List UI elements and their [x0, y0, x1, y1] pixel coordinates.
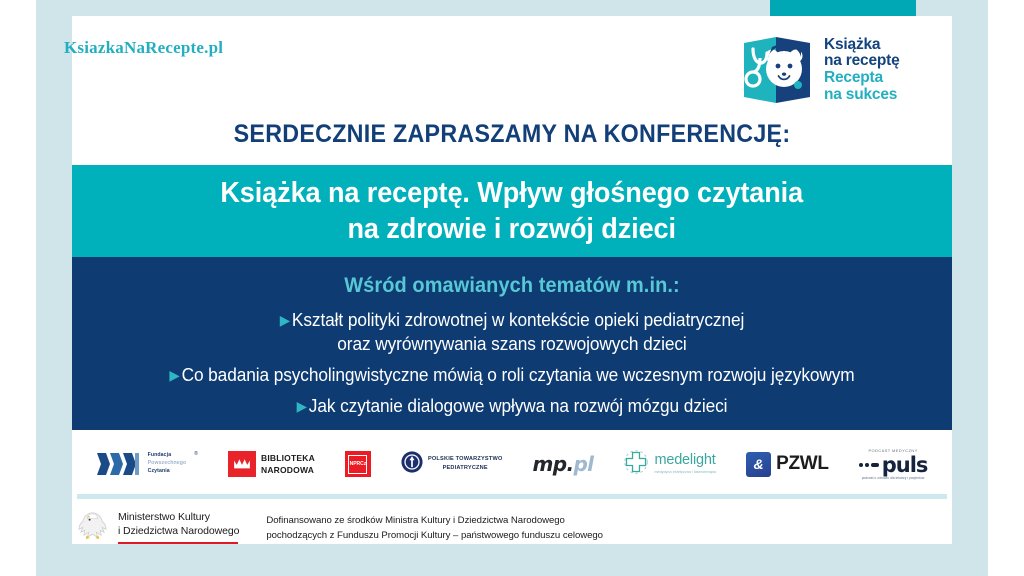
funding-note-line-1: Dofinansowano ze środków Ministra Kultur…	[266, 515, 565, 526]
header: KsiazkaNaRecepte.pl	[72, 16, 952, 116]
brand-line-2: na receptę	[824, 53, 900, 70]
conference-title-band: Książka na receptę. Wpływ głośnego czyta…	[72, 165, 952, 257]
fpc-mark-icon	[97, 451, 143, 477]
puls-row: puls	[859, 453, 928, 477]
nprcz-square-icon: NPRCz	[345, 451, 371, 477]
brand-line-3: Recepta	[824, 70, 900, 87]
partner-logo-biblioteka-narodowa: BIBLIOTEKA NARODOWA	[228, 451, 315, 477]
topic-item: ▶Jak czytanie dialogowe wpływa na rozwój…	[90, 395, 935, 419]
brand-line-1: Książka	[824, 37, 900, 54]
ministry-name-line-1: Ministerstwo Kultury	[118, 511, 239, 525]
ministry-name-line-2: i Dziedzictwa Narodowego	[118, 525, 239, 539]
puls-dots-icon	[859, 463, 879, 467]
funding-note-line-2: pochodzących z Funduszu Promocji Kultury…	[266, 530, 603, 541]
brand-logo: Książka na receptę Recepta na sukces	[740, 30, 930, 110]
fpc-line-2: Powszechnego	[148, 460, 187, 468]
fpc-line-1: Fundacja	[148, 452, 187, 460]
bullet-arrow-icon: ▶	[169, 367, 179, 383]
fpc-line-3: Czytania	[148, 468, 187, 476]
bullet-arrow-icon: ▶	[280, 312, 290, 328]
topic-item: ▶Kształt polityki zdrowotnej w kontekści…	[90, 309, 935, 357]
topics-heading: Wśród omawianych tematów m.in.:	[94, 274, 930, 298]
brand-logo-text: Książka na receptę Recepta na sukces	[824, 37, 900, 104]
puls-name: puls	[882, 453, 928, 477]
top-accent-block	[770, 0, 916, 16]
brand-line-4: na sukces	[824, 87, 900, 104]
topics-list: ▶Kształt polityki zdrowotnej w kontekści…	[72, 309, 952, 419]
mp-pl-wordmark: mp.pl	[533, 452, 594, 476]
pl-part: pl	[573, 452, 593, 476]
registered-trademark-icon: ®	[194, 451, 198, 457]
puls-wordmark: PODCAST MEDYCZNY puls podcast o zdrowiu …	[859, 448, 928, 480]
polish-eagle-icon	[76, 510, 109, 542]
conference-poster-slide: KsiazkaNaRecepte.pl	[0, 0, 1024, 576]
partner-logo-fundacja-powszechnego-czytania: Fundacja Powszechnego Czytania ®	[97, 451, 198, 477]
ptp-line-1: POLSKIE TOWARZYSTWO	[428, 456, 503, 462]
biblioteka-narodowa-text: BIBLIOTEKA NARODOWA	[261, 452, 315, 477]
partner-logo-pzwl: & PZWL	[746, 452, 829, 477]
bullet-arrow-icon: ▶	[297, 398, 307, 414]
bn-line-2: NARODOWA	[261, 465, 314, 475]
partner-logo-nprcz: NPRCz	[345, 451, 371, 477]
book-bear-stethoscope-icon	[740, 33, 816, 107]
ministry-footer: Ministerstwo Kultury i Dziedzictwa Narod…	[76, 508, 948, 552]
fpc-logo-text: Fundacja Powszechnego Czytania	[148, 452, 187, 475]
pzwl-wordmark: PZWL	[776, 453, 829, 475]
medelight-wordmark: medelight medycyna estetyczna i laserote…	[654, 453, 716, 475]
footer-divider	[77, 494, 947, 499]
ministry-red-rule	[118, 542, 238, 544]
partner-logo-mp-pl: mp.pl	[533, 452, 594, 476]
medelight-tagline: medycyna estetyczna i laseroterapia	[654, 471, 716, 475]
ministry-name: Ministerstwo Kultury i Dziedzictwa Narod…	[118, 508, 239, 544]
ptp-line-2: PEDIATRYCZNE	[443, 465, 488, 471]
topic-item: ▶Co badania psycholingwistyczne mówią o …	[90, 364, 935, 388]
pzwl-badge-icon: &	[746, 452, 771, 477]
funding-note: Dofinansowano ze środków Ministra Kultur…	[266, 508, 603, 543]
ptp-emblem-icon	[401, 451, 423, 478]
mp-part: mp.	[533, 452, 574, 476]
bn-line-1: BIBLIOTEKA	[261, 453, 315, 463]
partner-logos-row: Fundacja Powszechnego Czytania ® BIBLIOT…	[72, 430, 952, 498]
ptp-logo-text: POLSKIE TOWARZYSTWO PEDIATRYCZNE	[428, 455, 503, 472]
medelight-cross-icon	[623, 449, 649, 480]
puls-tagline: podcast o zdrowiu dla lekarzy i pacjentó…	[862, 476, 925, 480]
site-url-label: KsiazkaNaRecepte.pl	[64, 38, 223, 58]
invitation-headline: SERDECZNIE ZAPRASZAMY NA KONFERENCJĘ:	[103, 120, 921, 149]
conference-title-line-2: na zdrowie i rozwój dzieci	[348, 213, 677, 245]
partner-logo-medelight: medelight medycyna estetyczna i laserote…	[623, 449, 716, 480]
medelight-name: medelight	[654, 453, 716, 469]
topics-band: Wśród omawianych tematów m.in.: ▶Kształt…	[72, 257, 952, 430]
topic-item-line-1: Co badania psycholingwistyczne mówią o r…	[182, 365, 855, 385]
partner-logo-polskie-towarzystwo-pediatryczne: POLSKIE TOWARZYSTWO PEDIATRYCZNE	[401, 451, 503, 478]
conference-title-line-1: Książka na receptę. Wpływ głośnego czyta…	[221, 177, 804, 209]
topic-item-line-2: oraz wyrównywania szans rozwojowych dzie…	[90, 333, 935, 357]
crown-icon	[228, 451, 256, 477]
topic-item-line-1: Kształt polityki zdrowotnej w kontekście…	[292, 310, 744, 330]
partner-logo-puls: PODCAST MEDYCZNY puls podcast o zdrowiu …	[859, 448, 928, 480]
topic-item-line-1: Jak czytanie dialogowe wpływa na rozwój …	[309, 396, 728, 416]
slide-content-card: KsiazkaNaRecepte.pl	[72, 16, 952, 544]
conference-title: Książka na receptę. Wpływ głośnego czyta…	[221, 175, 804, 248]
nprcz-inner-label: NPRCz	[348, 455, 367, 474]
